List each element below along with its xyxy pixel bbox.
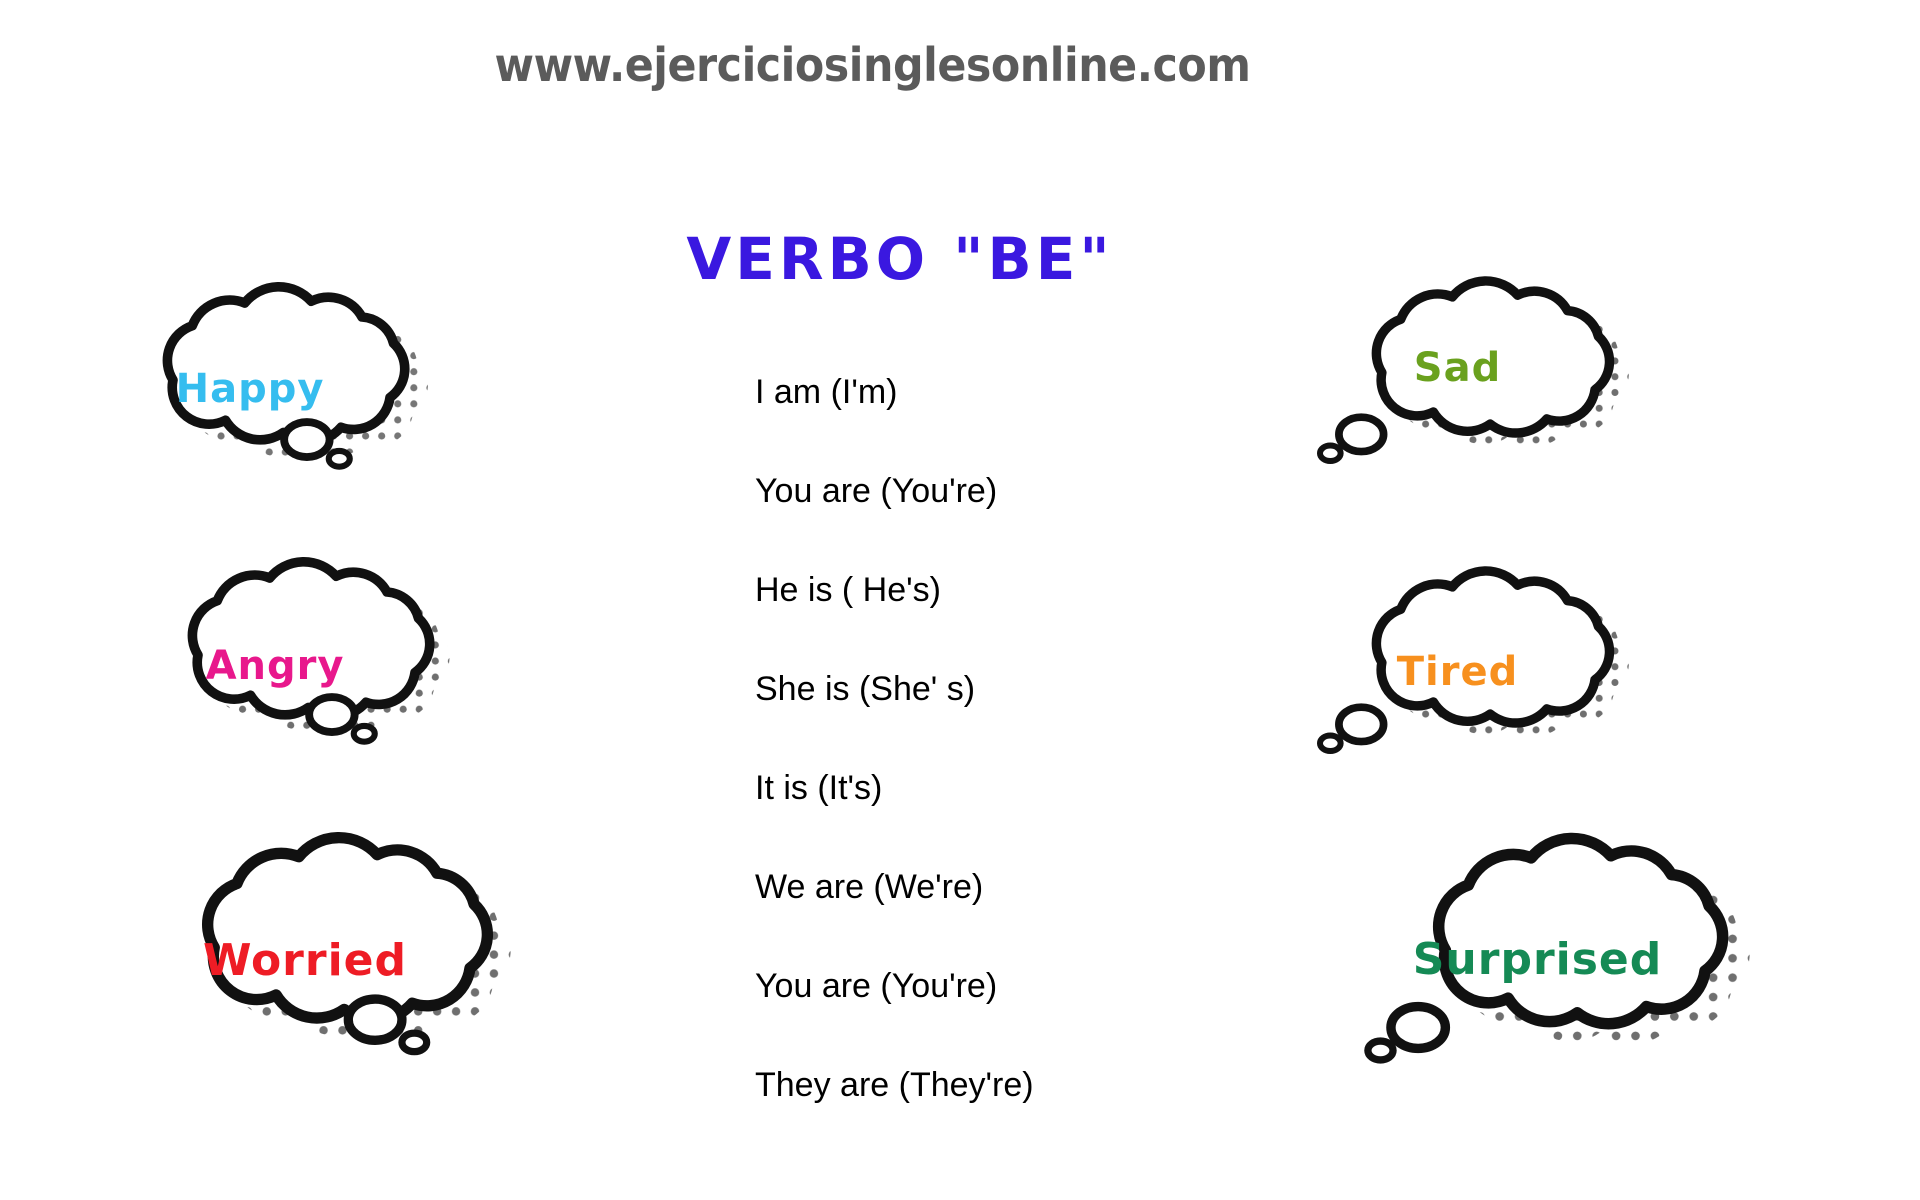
- conjugation-line: I am (I'm): [755, 375, 1185, 409]
- bubble-graphic: [110, 280, 390, 480]
- site-url-heading: www.ejerciciosinglesonline.com: [61, 38, 1684, 92]
- conjugation-line: It is (It's): [755, 771, 1185, 805]
- conjugation-line: We are (We're): [755, 870, 1185, 904]
- thought-bubble-surprised: Surprised: [1370, 830, 1705, 1070]
- cloud-body: [167, 287, 404, 442]
- cloud-body: [1439, 838, 1723, 1023]
- thought-bubble-angry: Angry: [135, 555, 415, 755]
- verb-conjugation-list: I am (I'm) You are (You're) He is ( He's…: [755, 375, 1185, 1102]
- thought-bubble-worried: Worried: [140, 830, 470, 1065]
- conjugation-line: She is (She' s): [755, 672, 1185, 706]
- thought-bubble-tired: Tired: [1320, 565, 1595, 760]
- cloud-body: [192, 562, 429, 717]
- conjugation-line: You are (You're): [755, 969, 1185, 1003]
- conjugation-line: He is ( He's): [755, 573, 1185, 607]
- bubble-graphic: [1320, 565, 1595, 760]
- bubble-graphic: [135, 555, 415, 755]
- cloud-body: [1376, 281, 1609, 433]
- thought-bubble-happy: Happy: [110, 280, 390, 480]
- conjugation-line: You are (You're): [755, 474, 1185, 508]
- cloud-body: [208, 838, 488, 1020]
- bubble-tail: [1368, 1007, 1445, 1060]
- bubble-graphic: [1320, 275, 1595, 470]
- cloud-body: [1376, 571, 1609, 723]
- bubble-graphic: [140, 830, 470, 1065]
- bubble-tail: [1320, 707, 1384, 751]
- bubble-tail: [1320, 417, 1384, 461]
- bubble-graphic: [1370, 830, 1705, 1070]
- thought-bubble-sad: Sad: [1320, 275, 1595, 470]
- conjugation-line: They are (They're): [755, 1068, 1185, 1102]
